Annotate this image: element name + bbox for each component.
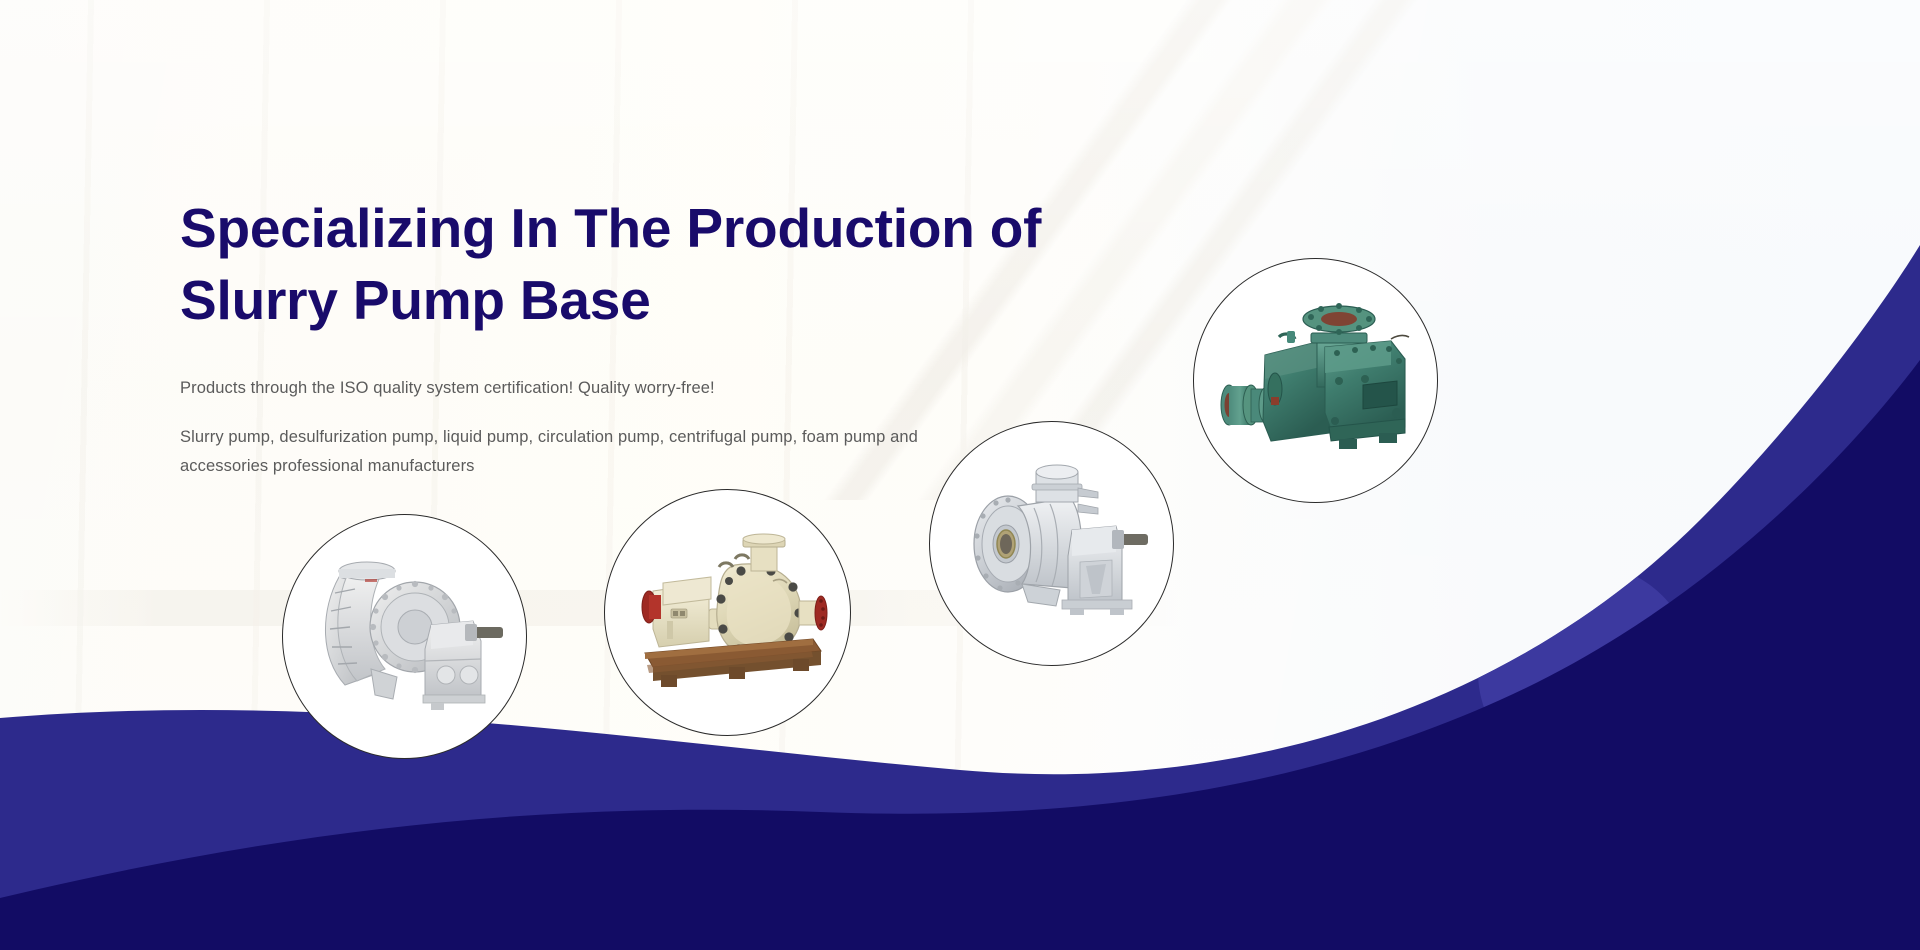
product-image-stage	[1194, 259, 1437, 502]
product-circle-slurry-pump-on-skid[interactable]	[604, 489, 851, 736]
slurry-pump-on-skid-icon	[623, 525, 833, 700]
product-image-stage	[283, 515, 526, 758]
gravel-pump-icon	[952, 456, 1152, 631]
desulfurization-pump-icon	[305, 549, 505, 724]
product-circle-green-slurry-pump[interactable]	[1193, 258, 1438, 503]
product-circle-gravel-pump[interactable]	[929, 421, 1174, 666]
product-image-stage	[930, 422, 1173, 665]
hero-subtitle-2: Slurry pump, desulfurization pump, liqui…	[180, 423, 920, 481]
wooden-skid	[645, 639, 821, 687]
hero-banner: Specializing In The Production of Slurry…	[0, 0, 1920, 950]
page-title: Specializing In The Production of Slurry…	[180, 192, 1210, 336]
green-slurry-pump-icon	[1213, 293, 1418, 468]
hero-subtitle-1: Products through the ISO quality system …	[180, 374, 920, 403]
product-circle-desulfurization-pump[interactable]	[282, 514, 527, 759]
product-image-stage	[605, 490, 850, 735]
